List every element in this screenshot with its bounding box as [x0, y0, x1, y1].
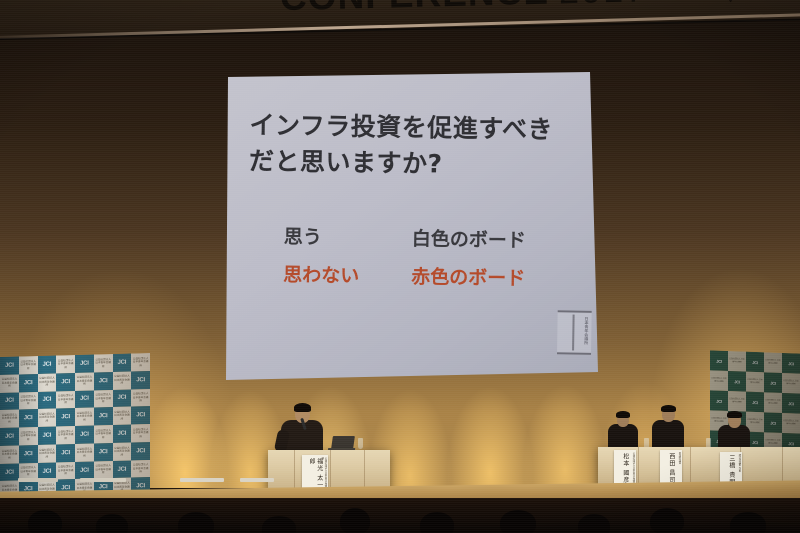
- jci-logo-icon: JCI: [788, 401, 794, 406]
- sponsor-name-text: 公益社団法人 日本青年会議所: [746, 419, 764, 425]
- sponsor-tile-jci-logo: JCI: [94, 372, 113, 390]
- sponsor-tile-jci-logo: JCI: [746, 352, 764, 373]
- jci-logo-icon: JCI: [43, 397, 52, 403]
- sponsor-name-text: 公益社団法人 日本青年会議所: [19, 431, 38, 442]
- sponsor-name-text: 公益社団法人 日本青年会議所: [131, 392, 150, 403]
- jci-logo-icon: JCI: [770, 420, 776, 425]
- sponsor-tile-text: 公益社団法人 日本青年会議所: [56, 426, 75, 444]
- sponsor-name-text: 公益社団法人 日本青年会議所: [113, 446, 132, 457]
- sponsor-tile-jci-logo: JCI: [782, 353, 800, 374]
- jci-logo-icon: JCI: [43, 468, 52, 474]
- sponsor-tile-jci-logo: JCI: [75, 355, 94, 373]
- sponsor-tile-jci-logo: JCI: [710, 350, 728, 371]
- slide-question: インフラ投資を促進すべき だと思いますか?: [249, 107, 580, 183]
- sponsor-tile-jci-logo: JCI: [746, 392, 764, 413]
- option-yes-answer: 思う: [284, 222, 412, 251]
- jci-logo-icon: JCI: [752, 439, 758, 444]
- audience-head: [730, 512, 766, 533]
- jci-logo-icon: JCI: [788, 441, 794, 446]
- sponsor-name-text: 公益社団法人 日本青年会議所: [38, 377, 57, 388]
- panelist-2-hair: [661, 405, 676, 412]
- jci-logo-icon: JCI: [99, 378, 108, 384]
- sponsor-tile-text: 公益社団法人 日本青年会議所: [94, 425, 113, 443]
- sponsor-name-text: 公益社団法人 日本青年会議所: [113, 375, 132, 386]
- jci-logo-icon: JCI: [118, 360, 127, 366]
- sponsor-tile-jci-logo: JCI: [131, 371, 150, 389]
- sponsor-name-text: 公益社団法人 日本青年会議所: [75, 411, 94, 422]
- audience-head: [420, 512, 454, 533]
- jci-logo-icon: JCI: [5, 469, 14, 475]
- sponsor-name-text: 公益社団法人 日本青年会議所: [710, 378, 728, 384]
- nameplate-panelist-2: 西田 昌司 参議院議員: [660, 450, 682, 486]
- nameplate-panelist-2-name: 西田 昌司: [667, 453, 675, 484]
- nameplate-panelist-1-name: 松本 國彦: [621, 453, 629, 484]
- jci-logo-icon: JCI: [61, 450, 70, 456]
- sponsor-tile-jci-logo: JCI: [75, 390, 94, 408]
- slide-seal-emblem: 日本青年会議所: [557, 310, 592, 355]
- sponsor-tile-text: 公益社団法人 日本青年会議所: [131, 353, 150, 371]
- sponsor-tile-text: 公益社団法人 日本青年会議所: [710, 370, 728, 391]
- jci-logo-icon: JCI: [118, 466, 127, 472]
- option-yes-board: 白色のボード: [412, 224, 526, 253]
- banner-title: CONFERENCE2017: [279, 0, 647, 19]
- audience-head: [578, 514, 610, 533]
- jci-logo-icon: JCI: [61, 379, 70, 385]
- sponsor-tile-text: 公益社団法人 日本青年会議所: [0, 410, 19, 428]
- jci-logo-icon: JCI: [118, 431, 127, 437]
- sponsor-tile-text: 公益社団法人 日本青年会議所: [56, 462, 75, 480]
- sponsor-name-text: 公益社団法人 日本青年会議所: [113, 410, 132, 421]
- sponsor-tile-jci-logo: JCI: [19, 445, 38, 463]
- jci-logo-icon: JCI: [80, 467, 89, 473]
- jci-logo-icon: JCI: [734, 379, 740, 384]
- sponsor-name-text: 公益社団法人 日本青年会議所: [728, 358, 746, 364]
- sponsor-name-text: 公益社団法人 日本青年会議所: [0, 378, 19, 389]
- sponsor-tile-text: 公益社団法人 日本青年会議所: [38, 409, 57, 427]
- jci-logo-icon: JCI: [80, 361, 89, 367]
- sponsor-tile-jci-logo: JCI: [113, 425, 132, 443]
- sponsor-name-text: 公益社団法人 日本青年会議所: [746, 379, 764, 385]
- sponsor-tile-text: 公益社団法人 日本青年会議所: [94, 390, 113, 408]
- audience-head: [650, 508, 684, 533]
- sponsor-tile-text: 公益社団法人 日本青年会議所: [728, 351, 746, 372]
- jci-logo-icon: JCI: [43, 361, 52, 367]
- sponsor-tile-jci-logo: JCI: [0, 392, 19, 410]
- audience-foreground: [0, 498, 800, 533]
- sponsor-tile-text: 公益社団法人 日本青年会議所: [764, 392, 782, 413]
- sponsor-tile-jci-logo: JCI: [56, 444, 75, 462]
- slide-option-no: 思わない 赤色のボード: [283, 260, 613, 292]
- sponsor-name-text: 公益社団法人 日本青年会議所: [94, 464, 113, 475]
- jci-logo-icon: JCI: [43, 433, 52, 439]
- sponsor-tile-text: 公益社団法人 日本青年会議所: [131, 460, 150, 478]
- panelist-2-torso: [652, 420, 684, 450]
- footlight-2: [80, 478, 126, 482]
- jci-logo-icon: JCI: [118, 395, 127, 401]
- jci-diamond-icon: [724, 0, 737, 2]
- jci-logo-icon: JCI: [99, 449, 108, 455]
- sponsor-tile-text: 公益社団法人 日本青年会議所: [131, 424, 150, 442]
- jci-logo-icon: JCI: [788, 361, 794, 366]
- jci-logo-icon: JCI: [61, 414, 70, 420]
- sponsor-tile-jci-logo: JCI: [38, 427, 57, 445]
- panelist-1-hair: [616, 411, 630, 418]
- sponsor-name-text: 公益社団法人 日本青年会議所: [764, 440, 782, 446]
- sponsor-tile-text: 公益社団法人 日本青年会議所: [782, 413, 800, 434]
- sponsor-name-text: 公益社団法人 日本青年会議所: [56, 394, 75, 405]
- sponsor-tile-text: 公益社団法人 日本青年会議所: [19, 392, 38, 410]
- sponsor-tile-jci-logo: JCI: [19, 374, 38, 392]
- sponsor-name-text: 公益社団法人 日本青年会議所: [782, 380, 800, 386]
- sponsor-name-text: 公益社団法人 日本青年会議所: [728, 398, 746, 404]
- sponsor-name-text: 公益社団法人 日本青年会議所: [19, 466, 38, 477]
- nameplate-panelist-1: 松本 國彦 公益社団法人日本青年会議所: [614, 450, 636, 486]
- sponsor-tile-text: 公益社団法人 日本青年会議所: [113, 442, 132, 460]
- sponsor-tile-jci-logo: JCI: [0, 463, 19, 481]
- sponsor-name-text: 公益社団法人 日本青年会議所: [0, 413, 19, 424]
- sponsor-name-text: 公益社団法人 日本青年会議所: [94, 429, 113, 440]
- sponsor-tile-jci-logo: JCI: [113, 460, 132, 478]
- sponsor-tile-jci-logo: JCI: [38, 355, 57, 373]
- nameplate-panelist-2-title: 参議院議員: [678, 452, 681, 484]
- sponsor-tile-jci-logo: JCI: [94, 443, 113, 461]
- sponsor-tile-text: 公益社団法人 日本青年会議所: [75, 408, 94, 426]
- jci-logo-icon: JCI: [80, 432, 89, 438]
- jci-logo-icon: JCI: [24, 415, 33, 421]
- sponsor-tile-text: 公益社団法人 日本青年会議所: [746, 372, 764, 393]
- jci-logo-icon: JCI: [5, 362, 14, 368]
- sponsor-name-text: 公益社団法人 日本青年会議所: [0, 449, 19, 460]
- sponsor-tile-text: 公益社団法人 日本青年会議所: [0, 445, 19, 463]
- sponsor-tile-text: 公益社団法人 日本青年会議所: [56, 355, 75, 373]
- jci-logo-icon: JCI: [136, 377, 145, 383]
- jci-logo-icon: JCI: [80, 396, 89, 402]
- jci-logo-icon: JCI: [99, 413, 108, 419]
- sponsor-tile-text: 公益社団法人 日本青年会議所: [113, 371, 132, 389]
- conference-photo: CONFERENCE2017 JCI インフラ投資を促進すべき だと思いますか?…: [0, 0, 800, 533]
- audience-head: [96, 514, 128, 533]
- slide-content: インフラ投資を促進すべき だと思いますか? 思う 白色のボード 思わない 赤色の…: [224, 69, 601, 383]
- sponsor-tile-jci-logo: JCI: [764, 412, 782, 433]
- sponsor-name-text: 公益社団法人 日本青年会議所: [56, 430, 75, 441]
- sponsor-tile-jci-logo: JCI: [94, 407, 113, 425]
- footlight-1: [18, 478, 58, 482]
- sponsor-name-text: 公益社団法人 日本青年会議所: [19, 360, 38, 371]
- jci-logo-icon: JCI: [752, 359, 758, 364]
- sponsor-name-text: 公益社団法人 日本青年会議所: [94, 393, 113, 404]
- water-glass: [358, 438, 363, 449]
- sponsor-name-text: 公益社団法人 日本青年会議所: [19, 395, 38, 406]
- jci-logo-icon: JCI: [716, 358, 722, 363]
- sponsor-tile-text: 公益社団法人 日本青年会議所: [19, 427, 38, 445]
- sponsor-tile-text: 公益社団法人 日本青年会議所: [728, 391, 746, 412]
- sponsor-tile-text: 公益社団法人 日本青年会議所: [19, 356, 38, 374]
- sponsor-name-text: 公益社団法人 日本青年会議所: [38, 412, 57, 423]
- sponsor-name-text: 公益社団法人 日本青年会議所: [56, 465, 75, 476]
- sponsor-tile-jci-logo: JCI: [710, 390, 728, 411]
- jci-logo-icon: JCI: [136, 412, 145, 418]
- sponsor-name-text: 公益社団法人 日本青年会議所: [75, 447, 94, 458]
- sponsor-name-text: 公益社団法人 日本青年会議所: [94, 358, 113, 369]
- sponsor-name-text: 公益社団法人 日本青年会議所: [764, 400, 782, 406]
- sponsor-tile-text: 公益社団法人 日本青年会議所: [38, 444, 57, 462]
- sponsor-name-text: 公益社団法人 日本青年会議所: [75, 376, 94, 387]
- projection-screen: インフラ投資を促進すべき だと思いますか? 思う 白色のボード 思わない 赤色の…: [226, 72, 598, 380]
- sponsor-name-text: 公益社団法人 日本青年会議所: [131, 357, 150, 368]
- sponsor-tile-text: 公益社団法人 日本青年会議所: [75, 372, 94, 390]
- sponsor-tile-text: 公益社団法人 日本青年会議所: [56, 391, 75, 409]
- laptop-on-table: [331, 436, 355, 449]
- audience-head: [262, 516, 296, 533]
- banner-year: 2017: [558, 0, 647, 11]
- sponsor-name-text: 公益社団法人 日本青年会議所: [710, 418, 728, 424]
- sponsor-tile-text: 公益社団法人 日本青年会議所: [75, 443, 94, 461]
- sponsor-tile-jci-logo: JCI: [0, 428, 19, 446]
- sponsor-name-text: 公益社団法人 日本青年会議所: [764, 360, 782, 366]
- audience-head: [340, 508, 370, 533]
- jci-logo-icon: JCI: [770, 380, 776, 385]
- sponsor-name-text: 公益社団法人 日本青年会議所: [56, 359, 75, 370]
- sponsor-tile-jci-logo: JCI: [0, 356, 19, 374]
- sponsor-tile-jci-logo: JCI: [728, 371, 746, 392]
- sponsor-tile-text: 公益社団法人 日本青年会議所: [113, 407, 132, 425]
- audience-head: [500, 510, 536, 533]
- banner-logo-text: JCI: [695, 0, 722, 5]
- sponsor-name-text: 公益社団法人 日本青年会議所: [131, 463, 150, 474]
- moderator-hair: [294, 403, 311, 412]
- jci-logo-icon: JCI: [5, 434, 14, 440]
- footlight-4: [240, 478, 274, 482]
- sponsor-name-text: 公益社団法人 日本青年会議所: [131, 428, 150, 439]
- banner-jci-logo: JCI: [695, 0, 738, 5]
- sponsor-tile-text: 公益社団法人 日本青年会議所: [94, 354, 113, 372]
- jci-logo-icon: JCI: [716, 398, 722, 403]
- sponsor-tile-jci-logo: JCI: [75, 426, 94, 444]
- sponsor-tile-jci-logo: JCI: [764, 372, 782, 393]
- sponsor-tile-text: 公益社団法人 日本青年会議所: [38, 373, 57, 391]
- jci-logo-icon: JCI: [5, 398, 14, 404]
- sponsor-name-text: 公益社団法人 日本青年会議所: [782, 420, 800, 426]
- sponsor-tile-text: 公益社団法人 日本青年会議所: [764, 352, 782, 373]
- jci-logo-icon: JCI: [24, 380, 33, 386]
- sponsor-tile-jci-logo: JCI: [782, 393, 800, 414]
- sponsor-tile-jci-logo: JCI: [56, 373, 75, 391]
- audience-head: [28, 510, 62, 533]
- sponsor-tile-jci-logo: JCI: [19, 409, 38, 427]
- audience-head: [178, 512, 214, 533]
- banner-title-text: CONFERENCE: [279, 0, 549, 18]
- sponsor-tile-jci-logo: JCI: [38, 391, 57, 409]
- panelist-3-hair: [727, 411, 742, 418]
- sponsor-tile-jci-logo: JCI: [113, 354, 132, 372]
- footlight-3: [180, 478, 224, 482]
- sponsor-tile-text: 公益社団法人 日本青年会議所: [0, 374, 19, 392]
- jci-logo-icon: JCI: [752, 399, 758, 404]
- sponsor-name-text: 公益社団法人 日本青年会議所: [38, 448, 57, 459]
- sponsor-tile-text: 公益社団法人 日本青年会議所: [782, 373, 800, 394]
- sponsor-tile-jci-logo: JCI: [131, 442, 150, 460]
- option-no-board: 赤色のボード: [411, 262, 525, 291]
- sponsor-tile-jci-logo: JCI: [56, 408, 75, 426]
- jci-logo-icon: JCI: [24, 451, 33, 457]
- sponsor-tile-text: 公益社団法人 日本青年会議所: [94, 461, 113, 479]
- slide-option-yes: 思う 白色のボード: [284, 222, 614, 254]
- slide-seal-text: 日本青年会議所: [576, 317, 590, 349]
- slide-question-line2: だと思いますか?: [249, 143, 580, 184]
- sponsor-tile-jci-logo: JCI: [75, 461, 94, 479]
- sponsor-tile-text: 公益社団法人 日本青年会議所: [131, 389, 150, 407]
- sponsor-tile-jci-logo: JCI: [131, 406, 150, 424]
- jci-logo-icon: JCI: [136, 448, 145, 454]
- option-no-answer: 思わない: [283, 260, 411, 289]
- sponsor-tile-jci-logo: JCI: [113, 389, 132, 407]
- slide-question-line1: インフラ投資を促進すべき: [249, 107, 580, 148]
- nameplate-panelist-1-title: 公益社団法人日本青年会議所: [632, 452, 635, 484]
